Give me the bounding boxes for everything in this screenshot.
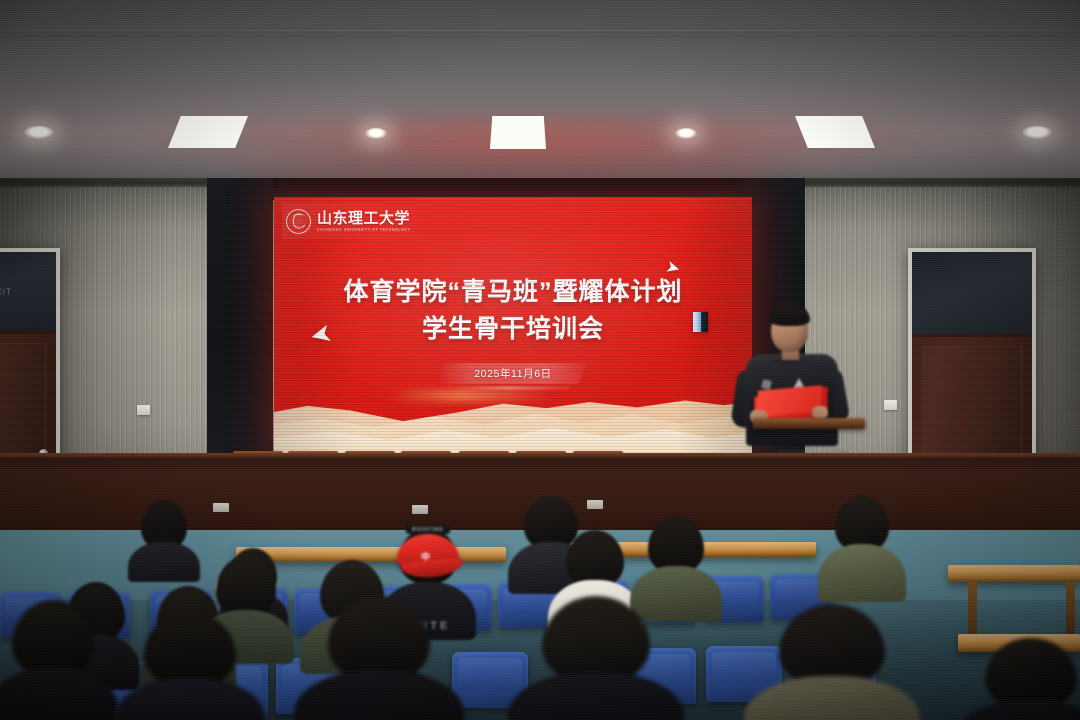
university-name-cn: 山东理工大学: [317, 211, 411, 227]
speaker-hair: [769, 303, 810, 326]
audience-person: [956, 638, 1080, 720]
podium-top: [753, 418, 865, 429]
ceiling-seam: [0, 36, 1080, 37]
slide-headline-line2: 学生骨干培训会: [274, 309, 752, 345]
slide-headline-line1: 体育学院“青马班”暨耀体计划: [274, 272, 752, 308]
audience-person: [508, 596, 684, 720]
audience-person: [294, 596, 464, 720]
audience-head: [216, 556, 276, 618]
desk-leg: [1066, 582, 1075, 642]
stage-vent: [412, 505, 428, 514]
ceiling-downlight: [1022, 126, 1052, 139]
wall-switch-plate[interactable]: [884, 400, 897, 410]
audience-shoulders: [294, 670, 464, 720]
audience-head: [12, 600, 94, 678]
ceiling-panel-light: [795, 116, 875, 148]
ceiling-panel-light: [168, 116, 248, 148]
audience-desk: [948, 565, 1080, 582]
audience-person: [0, 600, 118, 720]
university-logo-text: 山东理工大学 SHANDONG UNIVERSITY OF TECHNOLOGY: [317, 211, 411, 231]
audience-person: [818, 496, 906, 600]
ceiling-seam: [0, 30, 1080, 31]
stage-edge: [0, 453, 1080, 458]
cap-logo-mark: 中: [421, 550, 431, 563]
audience-head: [144, 612, 236, 688]
ceiling-downlight: [24, 126, 54, 139]
audience-person: [128, 500, 200, 570]
ceiling: [0, 0, 1080, 182]
screen-pillar-left: [207, 178, 273, 478]
mountain-glow: [389, 390, 552, 401]
audience-shoulders: [128, 542, 200, 582]
cap-band-text: ROOFING: [406, 525, 450, 534]
audience-shoulders: [0, 668, 118, 720]
ceiling-panel-light: [490, 116, 546, 149]
university-logo: 山东理工大学 SHANDONG UNIVERSITY OF TECHNOLOGY: [282, 203, 442, 239]
wall-switch-plate[interactable]: [137, 405, 150, 415]
audience-shoulders: [744, 676, 920, 720]
stage-vent: [213, 503, 229, 512]
ceiling-downlight: [675, 128, 697, 139]
audience-person: [116, 612, 264, 720]
ceiling-downlight: [365, 128, 387, 139]
mini-flag-icon: [693, 312, 708, 332]
led-screen: 山东理工大学 SHANDONG UNIVERSITY OF TECHNOLOGY…: [274, 197, 752, 453]
slide-mountain-graphic: [274, 377, 752, 453]
door-left-transom-label: EXIT: [0, 287, 12, 296]
audience-shoulders: [818, 544, 906, 602]
university-name-en: SHANDONG UNIVERSITY OF TECHNOLOGY: [317, 227, 411, 232]
audience-person: [744, 604, 920, 720]
audience-shoulders: [956, 700, 1080, 720]
lecture-hall-photo: EXIT 山东理工大学 SHANDONG UNIVERSITY OF TECHN…: [0, 0, 1080, 720]
audience-shoulders: [116, 678, 264, 720]
audience-head: [542, 596, 650, 684]
door-left-transom: EXIT: [0, 252, 56, 334]
university-crest-icon: [286, 209, 311, 234]
audience-shoulders: [508, 672, 684, 720]
door-right-transom: [912, 252, 1032, 337]
